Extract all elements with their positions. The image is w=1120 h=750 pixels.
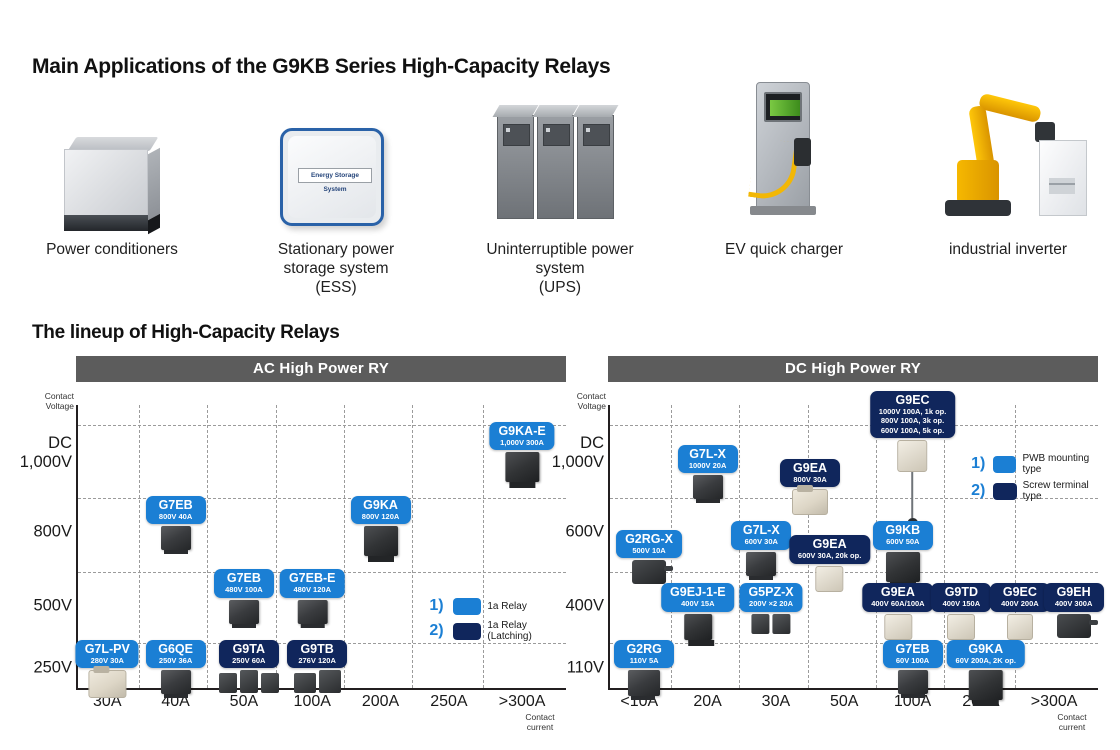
application-item-ups: Uninterruptible power system (UPS)	[448, 92, 672, 302]
relay-chip-g7eb-480v[interactable]: G7EB480V 100A	[214, 569, 274, 624]
relay-chip-g9ec-400v[interactable]: G9EC400V 200A	[990, 583, 1050, 640]
legend-number: 1)	[971, 455, 986, 473]
application-label: Uninterruptible power system (UPS)	[486, 240, 633, 297]
plot-area-dc: Contact Voltage Contact current DC 1,000…	[608, 405, 1098, 690]
section-title: The lineup of High-Capacity Relays	[32, 322, 340, 344]
industrial-inverter-icon	[896, 92, 1120, 232]
relay-chip-g9kb[interactable]: G9KB600V 50A	[873, 521, 933, 582]
legend-label: 1a Relay	[487, 601, 526, 612]
relay-photo	[746, 552, 776, 576]
legend-label: 1a Relay (Latching)	[487, 620, 531, 642]
applications-strip: Power conditioners Energy Storage System…	[0, 92, 1120, 302]
x-tick-dc-2: 30A	[762, 693, 790, 711]
relay-chip-g2rg[interactable]: G2RG110V 5A	[614, 640, 674, 697]
chart-header-dc: DC High Power RY	[608, 356, 1098, 382]
power-conditioner-icon	[0, 92, 224, 232]
legend-row-pwb: 1) 1a Relay	[429, 597, 531, 615]
relay-photo	[1007, 614, 1033, 640]
relay-chip-g7eb-800v[interactable]: G7EB800V 40A	[146, 496, 206, 551]
legend-row-pwb: 1) PWB mounting type	[971, 453, 1098, 475]
relay-photo	[884, 614, 912, 640]
legend-swatch-navy	[453, 623, 481, 640]
relay-chip-g9ej-1-e[interactable]: G9EJ-1-E400V 15A	[661, 583, 735, 640]
relay-chip-g9ta[interactable]: G9TA250V 60A	[219, 640, 279, 694]
relay-chip-g7eb-e[interactable]: G7EB-E480V 120A	[280, 569, 345, 624]
y-tick-dc-1: 600V	[565, 523, 604, 542]
x-tick-dc-6: >300A	[1031, 693, 1078, 711]
legend-swatch-navy	[993, 483, 1017, 500]
relay-photo	[816, 566, 844, 592]
y-tick-dc-0: DC 1,000V	[552, 434, 604, 472]
application-item-ev-charger: EV quick charger	[672, 92, 896, 302]
relay-chip-g7eb-60v[interactable]: G7EB60V 100A	[883, 640, 943, 695]
legend-number: 1)	[429, 597, 447, 615]
relay-photo	[898, 440, 928, 529]
relay-photo	[219, 670, 279, 693]
y-tick-ac-2: 500V	[33, 596, 72, 615]
relay-photo	[628, 670, 660, 696]
x-tick-dc-1: 20A	[693, 693, 721, 711]
relay-chip-g9td[interactable]: G9TD400V 150A	[931, 583, 991, 640]
legend-number: 2)	[971, 482, 986, 500]
application-label: industrial inverter	[949, 240, 1067, 259]
relay-chip-g9ea-400v[interactable]: G9EA400V 60A/100A	[862, 583, 933, 640]
relay-chip-g6qe[interactable]: G6QE250V 36A	[146, 640, 206, 695]
application-label: Power conditioners	[46, 240, 178, 259]
y-tick-ac-1: 800V	[33, 523, 72, 542]
x-axis-caption-ac: Contact current	[510, 712, 570, 732]
relay-photo	[969, 670, 1003, 700]
relay-photo	[229, 600, 259, 624]
y-tick-dc-3: 110V	[567, 659, 604, 678]
relay-photo	[632, 560, 666, 584]
x-tick-ac-3: 100A	[294, 693, 331, 711]
x-tick-ac-4: 200A	[362, 693, 399, 711]
application-item-ess: Energy Storage System Stationary power s…	[224, 92, 448, 302]
relay-photo	[161, 670, 191, 694]
relay-photo	[294, 670, 341, 693]
relay-chip-g9ka-e[interactable]: G9KA-E1,000V 300A	[489, 422, 554, 483]
relay-chip-g7l-pv[interactable]: G7L-PV280V 30A	[76, 640, 139, 699]
relay-chip-g9ka-60v[interactable]: G9KA60V 200A, 2K op.	[947, 640, 1025, 701]
legend-swatch-blue	[453, 598, 481, 615]
legend-swatch-blue	[993, 456, 1017, 473]
relay-photo	[752, 614, 791, 634]
legend-row-screw: 2) 1a Relay (Latching)	[429, 620, 531, 642]
relay-chip-g2rg-x[interactable]: G2RG-X500V 10A	[616, 530, 682, 585]
plot-area-ac: Contact Voltage Contact current DC 1,000…	[76, 405, 566, 690]
legend-dc: 1) PWB mounting type 2) Screw terminal t…	[971, 453, 1098, 502]
relay-photo	[792, 489, 828, 515]
legend-label: Screw terminal type	[1023, 480, 1098, 502]
application-label: Stationary power storage system (ESS)	[278, 240, 394, 297]
x-tick-ac-2: 50A	[230, 693, 258, 711]
chart-panel-dc: DC High Power RY Contact Voltage Contact…	[608, 356, 1098, 690]
relay-chip-g7l-x-1000v[interactable]: G7L-X1000V 20A	[678, 445, 738, 500]
relay-photo	[886, 552, 920, 582]
relay-photo	[693, 475, 723, 499]
relay-photo	[684, 614, 712, 640]
relay-chip-g9ka[interactable]: G9KA800V 120A	[351, 496, 411, 557]
chart-header-ac: AC High Power RY	[76, 356, 566, 382]
x-tick-dc-3: 50A	[830, 693, 858, 711]
ess-icon: Energy Storage System	[224, 92, 448, 232]
ev-charger-icon	[672, 92, 896, 232]
application-item-industrial-inverter: industrial inverter	[896, 92, 1120, 302]
ups-icon	[448, 92, 672, 232]
application-item-power-conditioners: Power conditioners	[0, 92, 224, 302]
y-tick-dc-2: 400V	[565, 596, 604, 615]
relay-photo	[947, 614, 975, 640]
application-label: EV quick charger	[725, 240, 843, 259]
relay-photo	[505, 452, 539, 482]
x-axis-caption-dc: Contact current	[1042, 712, 1102, 732]
chart-panel-ac: AC High Power RY Contact Voltage Contact…	[76, 356, 566, 690]
relay-photo	[1057, 614, 1091, 638]
legend-ac: 1) 1a Relay 2) 1a Relay (Latching)	[429, 597, 531, 642]
y-axis-caption-ac: Contact Voltage	[28, 391, 74, 411]
x-tick-ac-6: >300A	[499, 693, 546, 711]
y-axis-caption-dc: Contact Voltage	[560, 391, 606, 411]
relay-chip-g7l-x-600v[interactable]: G7L-X600V 30A	[731, 521, 791, 576]
x-tick-ac-5: 250A	[430, 693, 467, 711]
y-tick-ac-0: DC 1,000V	[20, 434, 72, 472]
relay-chip-g9ea-800v[interactable]: G9EA800V 30A	[780, 459, 840, 516]
legend-row-screw: 2) Screw terminal type	[971, 480, 1098, 502]
ess-screen-text: Energy Storage System	[298, 168, 372, 183]
relay-photo	[88, 670, 126, 698]
relay-chip-g9tb[interactable]: G9TB276V 120A	[287, 640, 347, 694]
relay-chip-g9eh[interactable]: G9EH400V 300A	[1044, 583, 1104, 638]
relay-photo	[297, 600, 327, 624]
legend-label: PWB mounting type	[1022, 453, 1098, 475]
relay-chip-g5pz-x[interactable]: G5PZ-X200V ×2 20A	[739, 583, 802, 634]
relay-chip-g9ec-1000v[interactable]: G9EC 1000V 100A, 1k op. 800V 100A, 3k op…	[870, 391, 956, 530]
y-tick-ac-3: 250V	[33, 659, 72, 678]
legend-number: 2)	[429, 622, 447, 640]
relay-photo	[161, 526, 191, 550]
page-title: Main Applications of the G9KB Series Hig…	[32, 55, 610, 79]
relay-photo	[364, 526, 398, 556]
relay-photo	[898, 670, 928, 694]
